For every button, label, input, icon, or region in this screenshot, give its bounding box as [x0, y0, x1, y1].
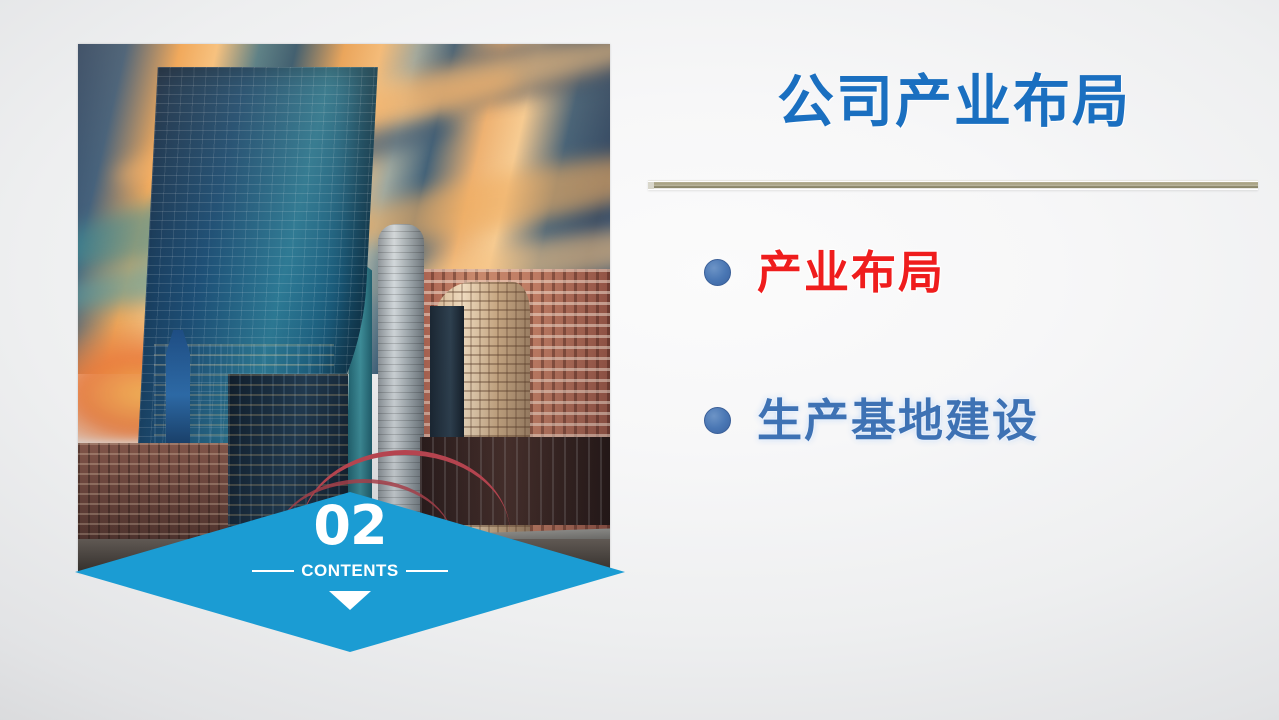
bullet-item-production-base[interactable]: 生产基地建设 [704, 396, 1039, 446]
city-skyline-photo [78, 44, 610, 573]
page-title: 公司产业布局 [648, 70, 1260, 136]
bullet-dot-icon [704, 407, 731, 434]
photo-artwork [78, 44, 610, 573]
bullet-dot-icon [704, 259, 731, 286]
bullet-label: 产业布局 [757, 248, 945, 298]
presentation-slide: 02 CONTENTS 公司产业布局 产业布局 生产基地建设 [0, 0, 1279, 720]
building-blue-spire [166, 330, 190, 460]
bullet-item-industry-layout[interactable]: 产业布局 [704, 248, 945, 298]
title-divider [648, 180, 1258, 190]
bullet-label: 生产基地建设 [757, 396, 1039, 446]
